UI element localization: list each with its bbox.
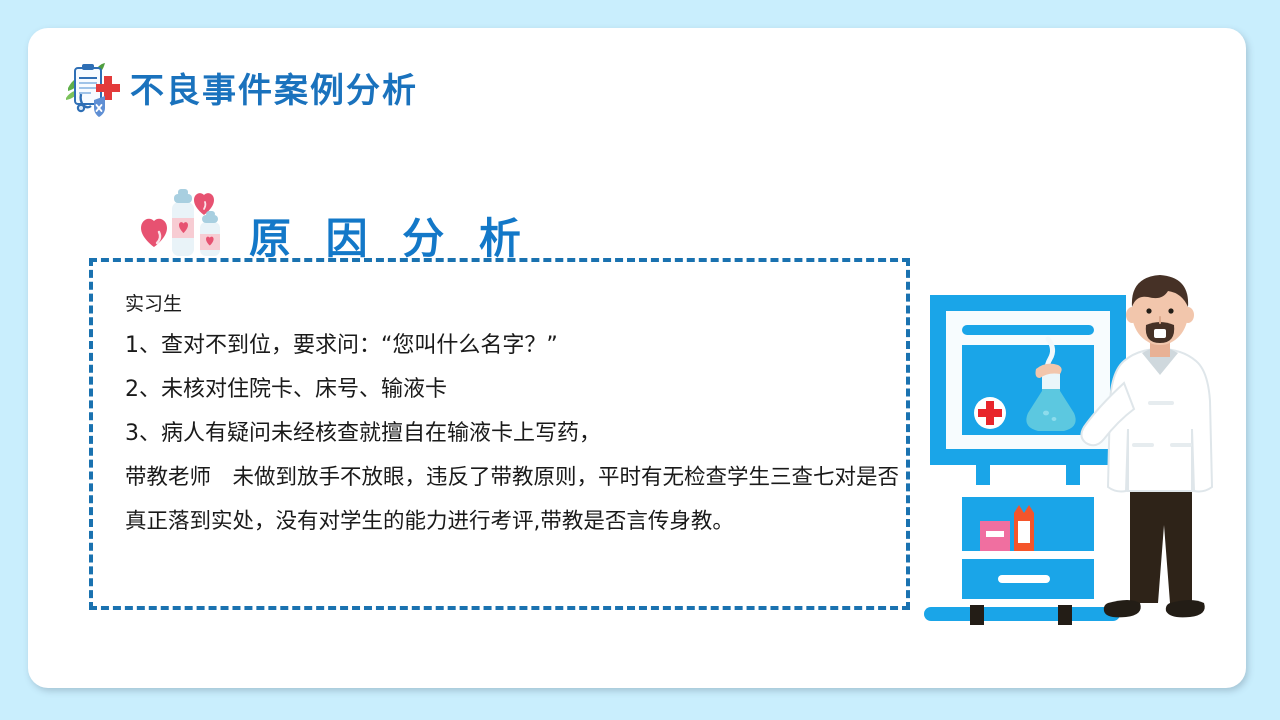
content-text-block: 实习生 1、查对不到位，要求问：“您叫什么名字？” 2、未核对住院卡、床号、输液…	[125, 284, 915, 544]
content-paragraph-teacher: 带教老师 未做到放手不放眼，违反了带教原则，平时有无检查学生三查七对是否真正落到…	[125, 456, 915, 544]
slide-title-row: 不良事件案例分析	[58, 60, 418, 122]
clipboard-stethoscope-cross-icon	[58, 60, 120, 122]
content-line-1: 1、查对不到位，要求问：“您叫什么名字？”	[125, 324, 915, 368]
page-title: 不良事件案例分析	[130, 74, 418, 108]
content-line-3: 3、病人有疑问未经核查就擅自在输液卡上写药，	[125, 412, 915, 456]
doctor-with-medical-cabinet-illustration	[918, 273, 1246, 643]
slide-card: 不良事件案例分析	[28, 28, 1246, 688]
slide-root: 不良事件案例分析	[0, 0, 1280, 720]
content-line-intern: 实习生	[125, 284, 915, 324]
content-line-2: 2、未核对住院卡、床号、输液卡	[125, 368, 915, 412]
